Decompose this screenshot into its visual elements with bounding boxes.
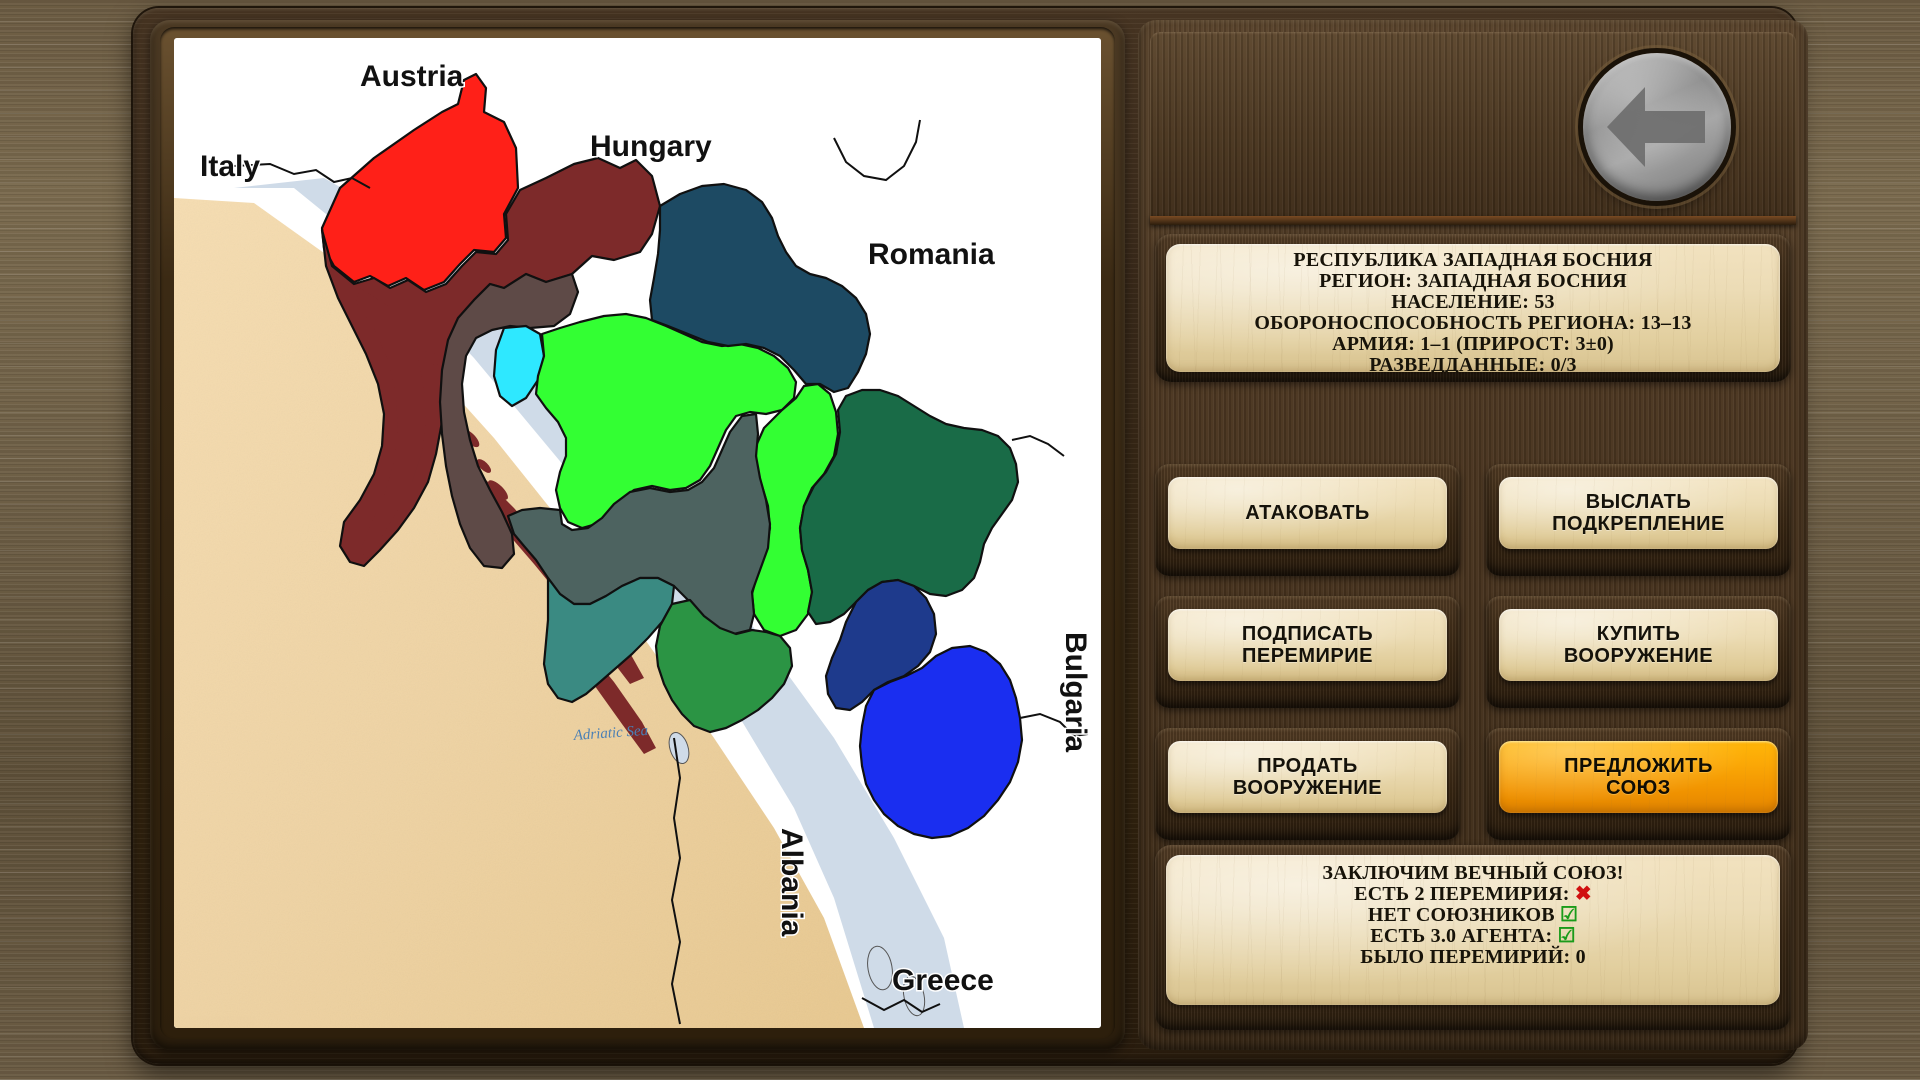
buy-arms-button[interactable]: Купить Вооружение bbox=[1499, 609, 1778, 681]
truce-button[interactable]: Подписать Перемирие bbox=[1168, 609, 1447, 681]
offer-alliance-button-label-1: Предложить bbox=[1564, 755, 1713, 777]
alliance-info-panel: Заключим вечный союз! Есть 2 перемирия: … bbox=[1166, 855, 1780, 1005]
reinforce-button-label-2: Подкрепление bbox=[1552, 513, 1725, 535]
sell-arms-button-label-1: Продать bbox=[1233, 755, 1382, 777]
reinforce-button[interactable]: Выслать Подкрепление bbox=[1499, 477, 1778, 549]
map-label-hungary: Hungary bbox=[590, 130, 712, 163]
alliance-condition-1: Есть 2 перемирия: ✖ bbox=[1166, 884, 1780, 905]
truce-button-label-1: Подписать bbox=[1242, 623, 1373, 645]
attack-button[interactable]: Атаковать bbox=[1168, 477, 1447, 549]
alliance-condition-1-text: Есть 2 перемирия: bbox=[1354, 883, 1570, 905]
alliance-condition-2-text: Нет союзников bbox=[1368, 904, 1555, 926]
info-population: Население: 53 bbox=[1166, 292, 1780, 313]
top-bar-divider bbox=[1150, 216, 1796, 225]
alliance-condition-3-text: Есть 3.0 агента: bbox=[1370, 925, 1552, 947]
game-screen: Austria Italy Hungary Romania Bulgaria A… bbox=[0, 0, 1920, 1080]
alliance-condition-2: Нет союзников ☑ bbox=[1166, 905, 1780, 926]
sell-arms-button[interactable]: Продать Вооружение bbox=[1168, 741, 1447, 813]
buy-arms-button-label-1: Купить bbox=[1564, 623, 1713, 645]
region-info-panel: Республика Западная Босния Регион: Запад… bbox=[1166, 244, 1780, 372]
arrow-left-icon bbox=[1605, 81, 1709, 173]
offer-alliance-button[interactable]: Предложить Союз bbox=[1499, 741, 1778, 813]
offer-alliance-button-label-2: Союз bbox=[1564, 777, 1713, 799]
info-intel: Разведданные: 0/3 bbox=[1166, 355, 1780, 372]
map-label-romania: Romania bbox=[868, 238, 995, 271]
sell-arms-button-label-2: Вооружение bbox=[1233, 777, 1382, 799]
map-label-austria: Austria bbox=[360, 60, 464, 93]
map-canvas[interactable]: Austria Italy Hungary Romania Bulgaria A… bbox=[174, 38, 1101, 1028]
alliance-title: Заключим вечный союз! bbox=[1166, 863, 1780, 884]
info-region: Регион: Западная Босния bbox=[1166, 271, 1780, 292]
truce-button-label-2: Перемирие bbox=[1242, 645, 1373, 667]
info-defense: Обороноспособность региона: 13–13 bbox=[1166, 313, 1780, 334]
map-label-albania: Albania bbox=[775, 828, 808, 937]
reinforce-button-label-1: Выслать bbox=[1552, 491, 1725, 513]
alliance-condition-2-mark: ☑ bbox=[1560, 904, 1578, 926]
back-button[interactable] bbox=[1583, 53, 1731, 201]
info-army: Армия: 1–1 (Прирост: 3±0) bbox=[1166, 334, 1780, 355]
buy-arms-button-label-2: Вооружение bbox=[1564, 645, 1713, 667]
info-country-name: Республика Западная Босния bbox=[1166, 250, 1780, 271]
alliance-condition-3: Есть 3.0 агента: ☑ bbox=[1166, 926, 1780, 947]
map-label-italy: Italy bbox=[200, 150, 260, 183]
alliance-condition-3-mark: ☑ bbox=[1558, 925, 1576, 947]
alliance-footer: Было перемирий: 0 bbox=[1166, 947, 1780, 968]
alliance-condition-1-mark: ✖ bbox=[1575, 883, 1592, 905]
attack-button-label: Атаковать bbox=[1245, 502, 1370, 524]
map-label-greece: Greece bbox=[892, 964, 994, 997]
map-label-bulgaria: Bulgaria bbox=[1059, 632, 1092, 752]
